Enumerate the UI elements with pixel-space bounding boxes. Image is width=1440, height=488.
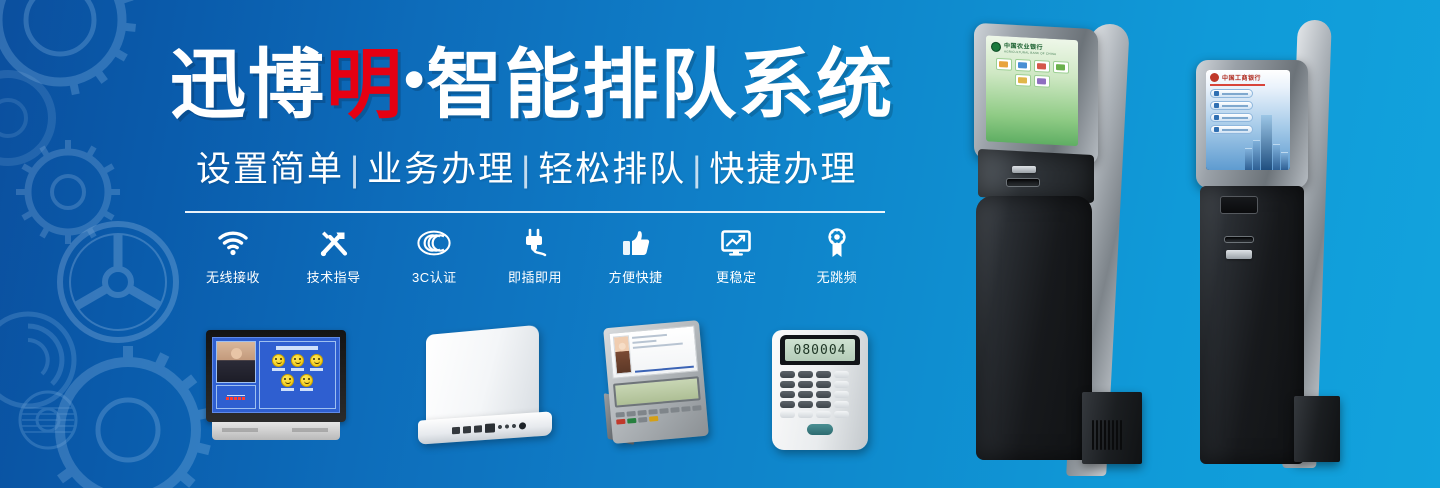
thumbs-up-icon	[588, 226, 684, 260]
evaluator-key-red[interactable]	[616, 419, 625, 425]
product-white-host-unit	[418, 330, 558, 445]
kiosk-base-box	[1294, 396, 1340, 462]
screen-staff-panel	[216, 341, 256, 409]
keypad-key[interactable]	[816, 401, 831, 408]
feature-item-3c-certification: 3C认证	[386, 226, 482, 286]
emoji-face-icon	[281, 374, 294, 387]
star	[230, 397, 233, 400]
subtitle: 设置简单|业务办理|轻松排队|快捷办理	[196, 147, 857, 193]
emoji-very-dissatisfied[interactable]	[300, 374, 313, 391]
evaluator-keypad[interactable]	[616, 405, 703, 424]
product-desktop-evaluator	[604, 322, 716, 450]
card-reader-slot[interactable]	[1220, 196, 1258, 214]
star	[238, 397, 241, 400]
evaluator-key-green[interactable]	[627, 418, 636, 424]
title-separator-dot: •	[404, 47, 426, 112]
host-panel	[426, 325, 539, 425]
keypad-key[interactable]	[816, 371, 831, 378]
kiosk-body	[976, 196, 1092, 460]
keypad-key[interactable]	[834, 391, 849, 398]
subtitle-item-1: 业务办理	[367, 150, 515, 189]
feature-label: 即插即用	[487, 267, 583, 286]
evaluator-key[interactable]	[638, 417, 647, 423]
id-card-photo	[613, 335, 632, 374]
port-power-jack	[519, 422, 526, 429]
emoji-very-satisfied[interactable]	[272, 354, 285, 371]
promo-banner: 迅博明•智能排队系统 设置简单|业务办理|轻松排队|快捷办理 无线接收	[0, 0, 1440, 488]
nameplate-line	[227, 395, 245, 396]
icbc-bank-ui: 中国工商银行	[1206, 70, 1290, 170]
port-indicator	[512, 424, 516, 428]
wifi-icon	[185, 226, 281, 260]
evaluator-key[interactable]	[670, 407, 679, 413]
title-part-2: 智能排队系统	[426, 43, 894, 128]
menu-item[interactable]	[1210, 101, 1253, 110]
stand-vent	[222, 428, 258, 432]
star	[234, 397, 237, 400]
service-tile[interactable]	[996, 58, 1012, 71]
keypad-key[interactable]	[780, 411, 795, 418]
keypad-key[interactable]	[834, 381, 849, 388]
feature-item-more-stable: 更稳定	[688, 226, 784, 286]
service-tile[interactable]	[1015, 74, 1031, 87]
port-usb	[463, 425, 471, 433]
id-card-line	[632, 340, 656, 344]
keypad-key[interactable]	[816, 391, 831, 398]
monitor-screen	[212, 337, 340, 413]
feature-item-technical-support: 技术指导	[286, 226, 382, 286]
evaluator-body	[603, 320, 709, 444]
feature-item-no-frequency-hopping: 无跳频	[789, 226, 885, 286]
kiosk-body	[1200, 186, 1304, 464]
plug-icon	[487, 226, 583, 260]
emoji-caption	[291, 368, 304, 371]
port-usb	[452, 426, 460, 434]
subtitle-item-2: 轻松排队	[538, 150, 686, 189]
keypad-lcd-value: 080004	[794, 343, 847, 358]
emoji-caption	[281, 388, 294, 391]
keypad-enter-button[interactable]	[807, 424, 833, 435]
star	[242, 397, 245, 400]
keypad-key[interactable]	[798, 381, 813, 388]
emoji-neutral[interactable]	[310, 354, 323, 371]
kiosk-screen-housing: 中国农业银行 AGRICULTURAL BANK OF CHINA	[974, 23, 1098, 165]
ccc-certification-icon	[386, 226, 482, 260]
service-icon-grid	[991, 58, 1073, 89]
feature-list: 无线接收 技术指导	[185, 226, 885, 290]
port-ethernet	[485, 423, 495, 433]
subtitle-separator: |	[515, 150, 538, 189]
queue-kiosk-icbc: 中国工商银行	[1190, 18, 1375, 480]
emoji-rating-grid	[263, 354, 332, 391]
feature-label: 无跳频	[789, 267, 885, 286]
kiosk-neck	[978, 149, 1094, 203]
evaluator-key[interactable]	[681, 406, 690, 412]
service-tile[interactable]	[1034, 60, 1050, 73]
keypad-terminal-body: 080004	[772, 330, 868, 450]
city-skyline-graphic	[1245, 114, 1288, 170]
keypad-key[interactable]	[798, 401, 813, 408]
emoji-caption	[300, 388, 313, 391]
keypad-key[interactable]	[780, 371, 795, 378]
title-accent-character: 明	[326, 43, 404, 128]
star	[226, 397, 229, 400]
emoji-face-icon	[310, 354, 323, 367]
evaluator-lcd-display	[613, 376, 701, 407]
monitor-chart-icon	[688, 226, 784, 260]
title-part-1: 迅博	[170, 43, 326, 128]
staff-nameplate	[216, 385, 256, 409]
feature-label: 方便快捷	[588, 267, 684, 286]
feature-label: 无线接收	[185, 267, 281, 286]
feature-label: 更稳定	[688, 267, 784, 286]
keypad-key[interactable]	[780, 401, 795, 408]
bank-header: 中国工商银行	[1210, 73, 1286, 82]
feature-label: 技术指导	[286, 267, 382, 286]
port-indicator	[505, 424, 509, 428]
evaluator-key[interactable]	[626, 411, 635, 417]
bank-header-underline	[1210, 84, 1265, 86]
feature-item-wireless: 无线接收	[185, 226, 281, 286]
emoji-satisfied[interactable]	[291, 354, 304, 371]
emoji-caption	[272, 368, 285, 371]
subtitle-separator: |	[686, 150, 709, 189]
keypad-display-housing: 080004	[780, 335, 860, 365]
emoji-dissatisfied[interactable]	[281, 374, 294, 391]
screen-rating-panel	[259, 341, 336, 409]
subtitle-item-0: 设置简单	[196, 150, 344, 189]
stand-vent	[292, 428, 328, 432]
bank-name: 中国工商银行	[1222, 73, 1261, 82]
keypad-key[interactable]	[798, 391, 813, 398]
staff-photo	[216, 341, 256, 383]
keypad-lcd: 080004	[785, 339, 855, 361]
keypad-key[interactable]	[816, 381, 831, 388]
service-tile[interactable]	[1034, 75, 1050, 88]
kiosk-brand-badge	[1012, 166, 1036, 173]
evaluator-key[interactable]	[648, 409, 657, 415]
ticket-printer-slot[interactable]	[1006, 178, 1040, 187]
keypad-key[interactable]	[834, 411, 849, 418]
feature-label: 3C认证	[386, 267, 482, 286]
feature-item-plug-and-play: 即插即用	[487, 226, 583, 286]
kiosk-screen-housing: 中国工商银行	[1196, 60, 1308, 188]
bank-logo-icon	[1210, 73, 1219, 82]
id-card-line	[633, 343, 683, 349]
bank-logo-icon	[991, 41, 1001, 52]
keypad-key[interactable]	[798, 371, 813, 378]
subtitle-item-3: 快捷办理	[709, 150, 857, 189]
id-card-line	[632, 334, 667, 339]
evaluator-key-yellow[interactable]	[649, 416, 658, 422]
id-card-text-lines	[632, 330, 694, 373]
kiosk-screen[interactable]: 中国农业银行 AGRICULTURAL BANK OF CHINA	[986, 35, 1078, 146]
emoji-face-icon	[300, 374, 313, 387]
award-ribbon-icon	[789, 226, 885, 260]
emoji-caption	[310, 368, 323, 371]
kiosk-brand-badge	[1226, 250, 1252, 259]
product-evaluation-monitor	[206, 330, 354, 450]
emoji-face-icon	[291, 354, 304, 367]
evaluator-key[interactable]	[616, 412, 625, 418]
keypad-keys[interactable]	[780, 371, 860, 418]
port-usb	[474, 425, 482, 433]
rating-stars	[226, 397, 245, 400]
bank-header: 中国农业银行 AGRICULTURAL BANK OF CHINA	[991, 40, 1073, 57]
feature-item-convenient: 方便快捷	[588, 226, 684, 286]
menu-item[interactable]	[1210, 89, 1253, 98]
id-card-accent-bar	[635, 366, 694, 373]
monitor-bezel	[206, 330, 346, 422]
header-divider	[185, 211, 885, 213]
evaluator-key[interactable]	[637, 410, 646, 416]
monitor-stand	[212, 422, 340, 440]
evaluator-key[interactable]	[692, 405, 701, 411]
agricultural-bank-ui: 中国农业银行 AGRICULTURAL BANK OF CHINA	[986, 35, 1078, 146]
port-indicator	[498, 425, 502, 429]
kiosk-base-vents	[1092, 420, 1122, 450]
keypad-key[interactable]	[780, 381, 795, 388]
keypad-key[interactable]	[834, 401, 849, 408]
tools-icon	[286, 226, 382, 260]
service-tile[interactable]	[1053, 61, 1069, 74]
keypad-key[interactable]	[816, 411, 831, 418]
evaluator-id-card	[609, 325, 699, 378]
keypad-key[interactable]	[834, 371, 849, 378]
keypad-key[interactable]	[798, 411, 813, 418]
product-keypad-terminal: 080004	[772, 330, 868, 450]
emoji-face-icon	[272, 354, 285, 367]
queue-kiosk-agricultural-bank: 中国农业银行 AGRICULTURAL BANK OF CHINA	[960, 20, 1180, 480]
page-title: 迅博明•智能排队系统	[170, 38, 894, 128]
kiosk-screen[interactable]: 中国工商银行	[1206, 70, 1290, 170]
service-tile[interactable]	[1015, 59, 1031, 72]
keypad-key[interactable]	[780, 391, 795, 398]
ticket-printer-slot[interactable]	[1224, 236, 1254, 243]
subtitle-separator: |	[344, 150, 367, 189]
evaluator-key[interactable]	[659, 408, 668, 414]
rating-prompt-text	[276, 346, 318, 350]
